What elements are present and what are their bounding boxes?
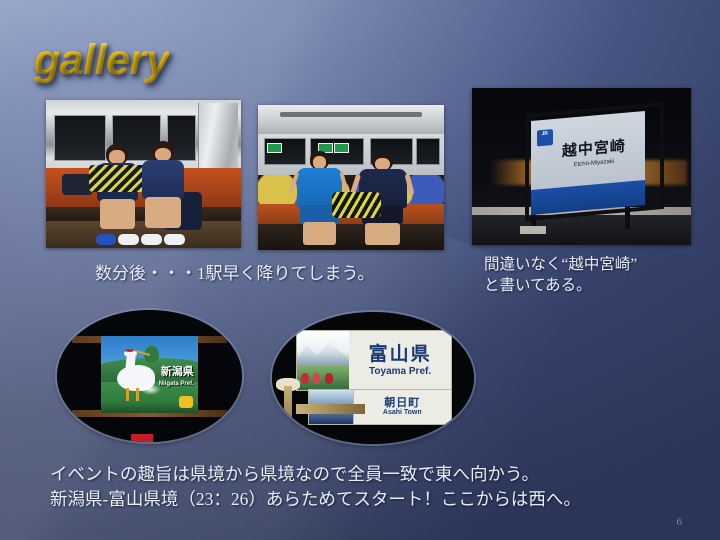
station-name-romaji: Etchū-Miyazaki xyxy=(574,159,615,169)
photo-station-sign-content: JR 越中宮崎 Etchū-Miyazaki xyxy=(472,88,691,245)
caption-right: 間違いなく“越中宮崎” と書いてある。 xyxy=(484,255,637,297)
photo-station-sign[interactable]: JR 越中宮崎 Etchū-Miyazaki xyxy=(472,88,691,245)
photo-niigata-pref-sign[interactable]: 新潟県 Niigata Pref. xyxy=(57,310,242,442)
presentation-slide: gallery xyxy=(0,0,720,540)
toyama-pref-plate: 富山県 Toyama Pref. xyxy=(296,330,452,390)
station-name-kanji: 越中宮崎 xyxy=(562,135,626,162)
photo-train-peace-sign[interactable] xyxy=(258,105,444,250)
niigata-romaji: Niigata Pref. xyxy=(159,381,194,387)
asahi-kanji: 朝日町 xyxy=(384,398,420,409)
photo-train-bench-content xyxy=(46,100,241,248)
caption-left: 数分後・・・1駅早く降りてしまう。 xyxy=(95,259,374,284)
caption-bottom: イベントの趣旨は県境から県境なので全員一致で東へ向かう。 新潟県-富山県境（23… xyxy=(50,462,581,513)
niigata-kanji: 新潟県 xyxy=(161,367,194,379)
toyama-romaji: Toyama Pref. xyxy=(369,366,431,377)
photo-toyama-pref-sign[interactable]: 富山県 Toyama Pref. 朝日町 Asahi Town xyxy=(272,312,474,444)
asahi-town-plate: 朝日町 Asahi Town xyxy=(353,389,452,425)
jr-logo: JR xyxy=(537,129,553,146)
photo-train-peace-sign-content xyxy=(258,105,444,250)
toyama-kanji: 富山県 xyxy=(369,345,432,364)
photo-train-bench[interactable] xyxy=(46,100,241,248)
page-title: gallery xyxy=(34,36,169,85)
page-number: 6 xyxy=(677,516,683,528)
photo-toyama-pref-content: 富山県 Toyama Pref. 朝日町 Asahi Town xyxy=(272,312,474,444)
photo-niigata-pref-content: 新潟県 Niigata Pref. xyxy=(57,310,242,442)
asahi-romaji: Asahi Town xyxy=(383,409,422,416)
